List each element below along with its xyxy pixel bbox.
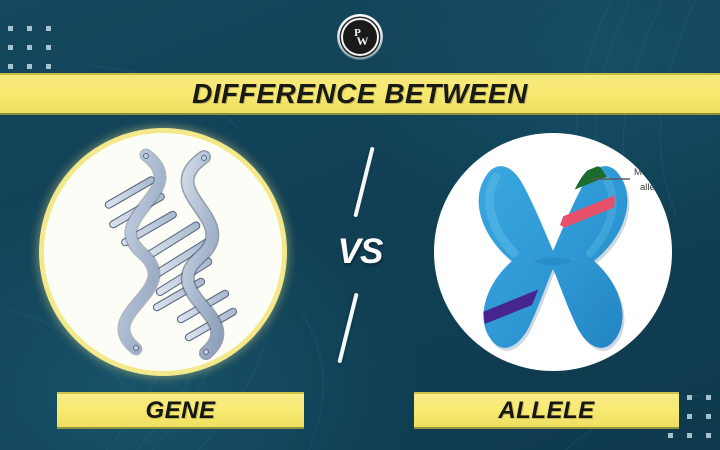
dot-grid-icon xyxy=(8,26,51,69)
dot xyxy=(8,26,13,31)
vs-divider: VS xyxy=(315,140,405,370)
callout-line-2: allele xyxy=(640,182,662,193)
dna-helix-illustration xyxy=(44,133,282,371)
dot xyxy=(46,26,51,31)
pw-logo-ring: P W xyxy=(341,18,379,56)
dot xyxy=(27,64,32,69)
dot xyxy=(8,45,13,50)
vs-line-top xyxy=(353,147,374,218)
dna-double-helix-icon xyxy=(44,133,282,371)
pw-logo-monogram: P W xyxy=(352,29,369,46)
pw-logo: P W xyxy=(337,14,383,60)
label-plate-allele: ALLELE xyxy=(414,392,679,429)
infographic-canvas: P W DIFFERENCE BETWEEN xyxy=(0,0,720,450)
dot xyxy=(8,64,13,69)
vs-label: VS xyxy=(315,232,405,272)
dot xyxy=(668,433,673,438)
comparison-panel-left xyxy=(38,133,288,378)
dot xyxy=(687,395,692,400)
dot xyxy=(27,45,32,50)
chromosome-illustration: Mutated allele xyxy=(434,133,672,371)
dot xyxy=(706,395,711,400)
dot xyxy=(687,433,692,438)
label-gene: GENE xyxy=(145,397,215,425)
callout-line-1: Mutated xyxy=(634,167,668,178)
page-title: DIFFERENCE BETWEEN xyxy=(192,78,528,110)
chromosome-icon: Mutated allele xyxy=(434,133,672,371)
dot xyxy=(46,45,51,50)
pw-logo-letter-w: W xyxy=(357,37,369,46)
dot xyxy=(46,64,51,69)
comparison-panel-right: Mutated allele xyxy=(428,133,678,378)
dot xyxy=(687,414,692,419)
dot xyxy=(706,414,711,419)
vs-line-bottom xyxy=(337,293,358,364)
label-allele: ALLELE xyxy=(498,397,594,425)
title-banner: DIFFERENCE BETWEEN xyxy=(0,73,720,115)
dot xyxy=(27,26,32,31)
label-plate-gene: GENE xyxy=(57,392,304,429)
dot xyxy=(706,433,711,438)
